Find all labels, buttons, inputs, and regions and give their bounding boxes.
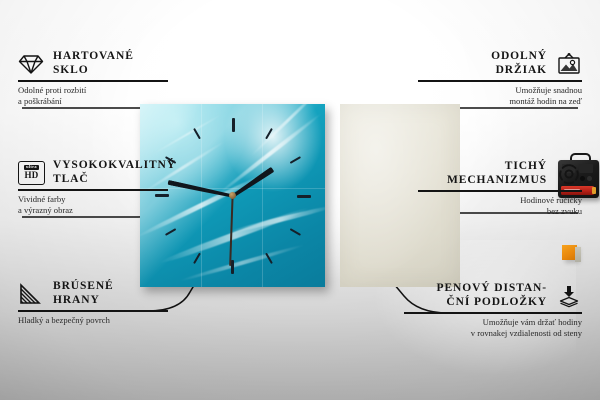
infographic-canvas: HARTOVANÉ SKLO Odolné proti rozbití a po… [0, 0, 600, 400]
background-vignette [0, 0, 600, 400]
